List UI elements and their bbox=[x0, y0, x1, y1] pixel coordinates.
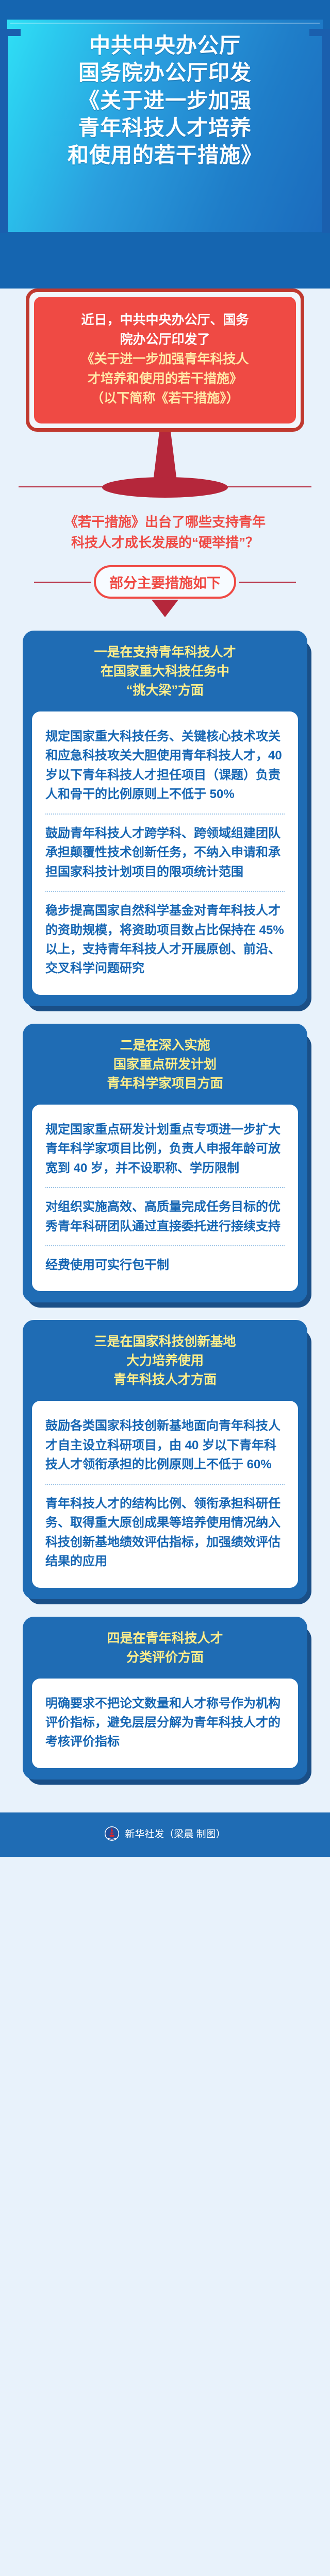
measures-badge: 部分主要措施如下 bbox=[94, 565, 236, 599]
section-1-heading-line-2: 在国家重大科技任务中 bbox=[38, 662, 292, 681]
intro-line-4: 才培养和使用的若干措施》 bbox=[47, 369, 283, 388]
section-1-divider-1 bbox=[45, 814, 285, 815]
intro-line-5: （以下简称《若干措施》） bbox=[47, 388, 283, 408]
measure-section-4: 四是在青年科技人才 分类评价方面 明确要求不把论文数量和人才称号作为机构评价指标… bbox=[23, 1617, 307, 1780]
section-1-para-1: 规定国家重大科技任务、关键核心技术攻关和应急科技攻关大胆使用青年科技人才，40岁… bbox=[45, 725, 285, 811]
section-2-heading: 二是在深入实施 国家重点研发计划 青年科学家项目方面 bbox=[23, 1024, 307, 1105]
section-1-heading-line-1: 一是在支持青年科技人才 bbox=[38, 643, 292, 662]
header-title-line-4: 青年科技人才培养 bbox=[0, 114, 330, 142]
section-3-card: 鼓励各类国家科技创新基地面向青年科技人才自主设立科研项目，由 40 岁以下青年科… bbox=[32, 1401, 298, 1587]
section-3-heading-line-2: 大力培养使用 bbox=[38, 1351, 292, 1370]
section-body: 二是在深入实施 国家重点研发计划 青年科学家项目方面 规定国家重点研发计划重点专… bbox=[23, 1024, 307, 1303]
section-4-heading-line-2: 分类评价方面 bbox=[38, 1648, 292, 1667]
monitor-stand-base bbox=[102, 477, 228, 498]
section-body: 一是在支持青年科技人才 在国家重大科技任务中 “挑大梁”方面 规定国家重大科技任… bbox=[23, 631, 307, 1006]
monitor-frame: 近日，中共中央办公厅、国务 院办公厅印发了 《关于进一步加强青年科技人 才培养和… bbox=[26, 289, 304, 432]
footer: 新华社发（梁晨 制图） bbox=[0, 1812, 330, 1857]
intro-line-2: 院办公厅印发了 bbox=[47, 330, 283, 349]
measures-badge-row: 部分主要措施如下 bbox=[0, 558, 330, 599]
header-banner: 中共中央办公厅 国务院办公厅印发 《关于进一步加强 青年科技人才培养 和使用的若… bbox=[0, 0, 330, 258]
section-1-divider-2 bbox=[45, 891, 285, 892]
header-divider-line bbox=[10, 23, 320, 24]
monitor-screen: 近日，中共中央办公厅、国务 院办公厅印发了 《关于进一步加强青年科技人 才培养和… bbox=[34, 297, 296, 423]
section-1-heading: 一是在支持青年科技人才 在国家重大科技任务中 “挑大梁”方面 bbox=[23, 631, 307, 711]
section-2-para-3: 经费使用可实行包干制 bbox=[45, 1248, 285, 1277]
section-2-heading-line-1: 二是在深入实施 bbox=[38, 1036, 292, 1055]
header-title-line-5: 和使用的若干措施》 bbox=[0, 142, 330, 169]
section-2-card: 规定国家重点研发计划重点专项进一步扩大青年科学家项目比例，负责人申报年龄可放宽到… bbox=[32, 1105, 298, 1292]
section-1-para-2: 鼓励青年科技人才跨学科、跨领域组建团队承担颠覆性技术创新任务，不纳入申请和承担国… bbox=[45, 817, 285, 889]
section-3-divider-1 bbox=[45, 1484, 285, 1485]
monitor-zone: 近日，中共中央办公厅、国务 院办公厅印发了 《关于进一步加强青年科技人 才培养和… bbox=[0, 289, 330, 432]
header-title-line-1: 中共中央办公厅 bbox=[0, 32, 330, 59]
badge-rule-left bbox=[34, 582, 91, 583]
badge-rule-right bbox=[239, 582, 296, 583]
section-3-heading-line-1: 三是在国家科技创新基地 bbox=[38, 1332, 292, 1351]
question-line-1: 《若干措施》出台了哪些支持青年 bbox=[21, 512, 309, 533]
measure-section-1: 一是在支持青年科技人才 在国家重大科技任务中 “挑大梁”方面 规定国家重大科技任… bbox=[23, 631, 307, 1006]
section-body: 三是在国家科技创新基地 大力培养使用 青年科技人才方面 鼓励各类国家科技创新基地… bbox=[23, 1320, 307, 1599]
section-3-para-2: 青年科技人才的结构比例、领衔承担科研任务、取得重大原创成果等培养使用情况纳入科技… bbox=[45, 1487, 285, 1573]
section-3-heading: 三是在国家科技创新基地 大力培养使用 青年科技人才方面 bbox=[23, 1320, 307, 1401]
section-4-card: 明确要求不把论文数量和人才称号作为机构评价指标，避免层层分解为青年科技人才的考核… bbox=[32, 1679, 298, 1768]
section-1-para-3: 稳步提高国家自然科学基金对青年科技人才的资助规模，将资助项目数占比保持在 45%… bbox=[45, 894, 285, 980]
section-2-divider-2 bbox=[45, 1245, 285, 1246]
section-3-heading-line-3: 青年科技人才方面 bbox=[38, 1370, 292, 1389]
intro-line-1: 近日，中共中央办公厅、国务 bbox=[47, 310, 283, 330]
section-2-heading-line-2: 国家重点研发计划 bbox=[38, 1055, 292, 1074]
footer-credit: 新华社发（梁晨 制图） bbox=[125, 1826, 225, 1840]
page-title: 中共中央办公厅 国务院办公厅印发 《关于进一步加强 青年科技人才培养 和使用的若… bbox=[0, 32, 330, 169]
header-title-line-2: 国务院办公厅印发 bbox=[0, 59, 330, 87]
down-arrow-icon bbox=[152, 600, 178, 617]
section-2-para-1: 规定国家重点研发计划重点专项进一步扩大青年科学家项目比例，负责人申报年龄可放宽到… bbox=[45, 1118, 285, 1185]
badge-arrow-wrap bbox=[0, 599, 330, 631]
xinhua-logo-icon bbox=[104, 1826, 120, 1841]
section-body: 四是在青年科技人才 分类评价方面 明确要求不把论文数量和人才称号作为机构评价指标… bbox=[23, 1617, 307, 1780]
intro-line-3: 《关于进一步加强青年科技人 bbox=[47, 349, 283, 369]
section-1-heading-line-3: “挑大梁”方面 bbox=[38, 681, 292, 700]
section-4-para-1: 明确要求不把论文数量和人才称号作为机构评价指标，避免层层分解为青年科技人才的考核… bbox=[45, 1692, 285, 1754]
header-title-line-3: 《关于进一步加强 bbox=[0, 87, 330, 114]
section-3-para-1: 鼓励各类国家科技创新基地面向青年科技人才自主设立科研项目，由 40 岁以下青年科… bbox=[45, 1414, 285, 1481]
monitor-stand bbox=[0, 432, 330, 499]
section-1-card: 规定国家重大科技任务、关键核心技术攻关和应急科技攻关大胆使用青年科技人才，40岁… bbox=[32, 711, 298, 995]
section-2-heading-line-3: 青年科学家项目方面 bbox=[38, 1074, 292, 1093]
measure-section-3: 三是在国家科技创新基地 大力培养使用 青年科技人才方面 鼓励各类国家科技创新基地… bbox=[23, 1320, 307, 1599]
question-line-2: 科技人才成长发展的“硬举措”？ bbox=[21, 533, 309, 553]
measures-list: 一是在支持青年科技人才 在国家重大科技任务中 “挑大梁”方面 规定国家重大科技任… bbox=[0, 631, 330, 1812]
measure-section-2: 二是在深入实施 国家重点研发计划 青年科学家项目方面 规定国家重点研发计划重点专… bbox=[23, 1024, 307, 1303]
monitor-stand-neck bbox=[153, 432, 177, 481]
section-4-heading: 四是在青年科技人才 分类评价方面 bbox=[23, 1617, 307, 1679]
section-4-heading-line-1: 四是在青年科技人才 bbox=[38, 1629, 292, 1648]
monitor-ground-line bbox=[19, 486, 311, 487]
section-2-para-2: 对组织实施高效、高质量完成任务目标的优秀青年科研团队通过直接委托进行接续支持 bbox=[45, 1190, 285, 1243]
question-heading: 《若干措施》出台了哪些支持青年 科技人才成长发展的“硬举措”？ bbox=[0, 499, 330, 558]
section-2-divider-1 bbox=[45, 1187, 285, 1188]
